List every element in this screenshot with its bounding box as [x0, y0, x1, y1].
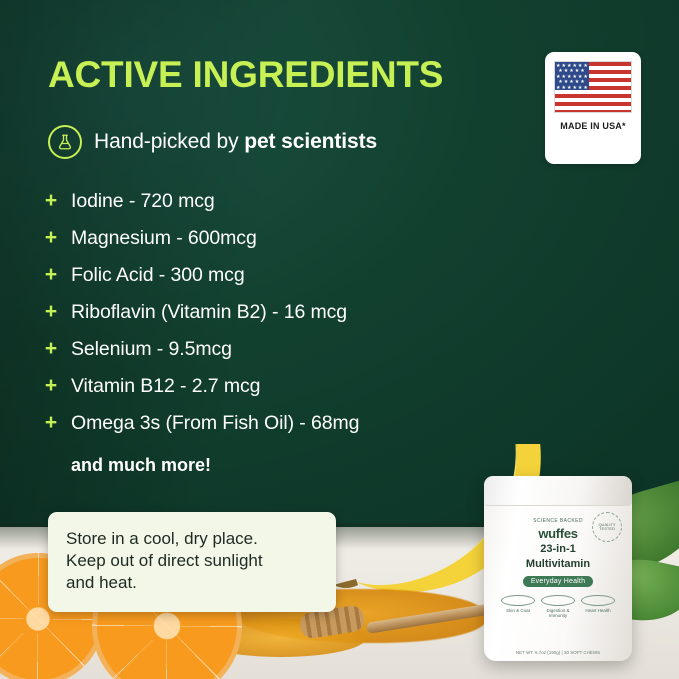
- plus-icon: +: [44, 190, 58, 211]
- list-item: + Vitamin B12 - 2.7 mcg: [44, 375, 359, 412]
- ingredient-list-footer: and much more!: [71, 455, 359, 476]
- subtitle-prefix: Hand-picked by: [94, 130, 244, 153]
- plus-icon: +: [44, 338, 58, 359]
- subtitle-text: Hand-picked by pet scientists: [94, 130, 377, 154]
- list-item: + Omega 3s (From Fish Oil) - 68mg: [44, 412, 359, 449]
- list-item: + Folic Acid - 300 mcg: [44, 264, 359, 301]
- list-item: + Riboflavin (Vitamin B2) - 16 mcg: [44, 301, 359, 338]
- ingredient-label: Iodine - 720 mcg: [71, 190, 215, 213]
- ingredient-label: Magnesium - 600mcg: [71, 227, 257, 250]
- list-item: + Iodine - 720 mcg: [44, 190, 359, 227]
- ingredient-label: Riboflavin (Vitamin B2) - 16 mcg: [71, 301, 347, 324]
- ingredient-label: Selenium - 9.5mcg: [71, 338, 232, 361]
- flag-canton: ★★★★★★ ★★★★★ ★★★★★★ ★★★★★ ★★★★★★: [555, 62, 589, 90]
- storage-line-1: Store in a cool, dry place.: [66, 528, 318, 550]
- content-layer: ACTIVE INGREDIENTS Hand-picked by pet sc…: [0, 0, 679, 679]
- list-item: + Magnesium - 600mcg: [44, 227, 359, 264]
- plus-icon: +: [44, 227, 58, 248]
- flask-icon: [48, 125, 82, 159]
- storage-instructions-card: Store in a cool, dry place. Keep out of …: [48, 512, 336, 612]
- plus-icon: +: [44, 412, 58, 433]
- storage-line-2: Keep out of direct sunlight: [66, 550, 318, 572]
- ingredient-label: Vitamin B12 - 2.7 mcg: [71, 375, 260, 398]
- storage-line-3: and heat.: [66, 572, 318, 594]
- list-item: + Selenium - 9.5mcg: [44, 338, 359, 375]
- plus-icon: +: [44, 301, 58, 322]
- made-in-usa-label: MADE IN USA*: [560, 121, 625, 131]
- ingredient-label: Omega 3s (From Fish Oil) - 68mg: [71, 412, 359, 435]
- ingredient-list: + Iodine - 720 mcg + Magnesium - 600mcg …: [44, 190, 359, 476]
- made-in-usa-badge: ★★★★★★ ★★★★★ ★★★★★★ ★★★★★ ★★★★★★ MADE IN…: [545, 52, 641, 164]
- usa-flag-icon: ★★★★★★ ★★★★★ ★★★★★★ ★★★★★ ★★★★★★: [554, 61, 632, 113]
- plus-icon: +: [44, 375, 58, 396]
- promo-image: QUALITY TESTED SCIENCE BACKED wuffes 23-…: [0, 0, 679, 679]
- page-title: ACTIVE INGREDIENTS: [48, 56, 443, 93]
- ingredient-label: Folic Acid - 300 mcg: [71, 264, 245, 287]
- subtitle-bold: pet scientists: [244, 130, 377, 153]
- subtitle-row: Hand-picked by pet scientists: [48, 125, 377, 159]
- plus-icon: +: [44, 264, 58, 285]
